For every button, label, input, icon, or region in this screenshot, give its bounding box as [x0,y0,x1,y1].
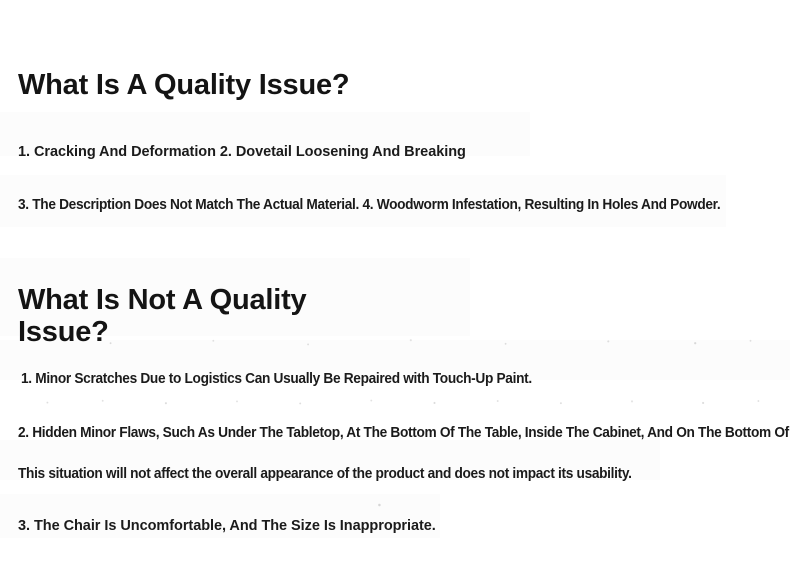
section-heading-not-quality-issue: What Is Not A Quality Issue? [18,284,348,348]
not-quality-issue-item-1: 1. Minor Scratches Due to Logistics Can … [21,370,683,389]
speckle-artifact [0,396,790,408]
not-quality-issue-item-2: 2. Hidden Minor Flaws, Such As Under The… [18,424,765,443]
quality-issue-item-2: 3. The Description Does Not Match The Ac… [18,196,736,215]
section-heading-quality-issue: What Is A Quality Issue? [18,69,349,101]
speckle-artifact [330,498,460,512]
quality-issue-item-1: 1. Cracking And Deformation 2. Dovetail … [18,143,718,162]
not-quality-issue-item-2-note: This situation will not affect the overa… [18,465,680,484]
not-quality-issue-item-3: 3. The Chair Is Uncomfortable, And The S… [18,517,448,536]
document-page: What Is A Quality Issue? 1. Cracking And… [0,0,790,587]
